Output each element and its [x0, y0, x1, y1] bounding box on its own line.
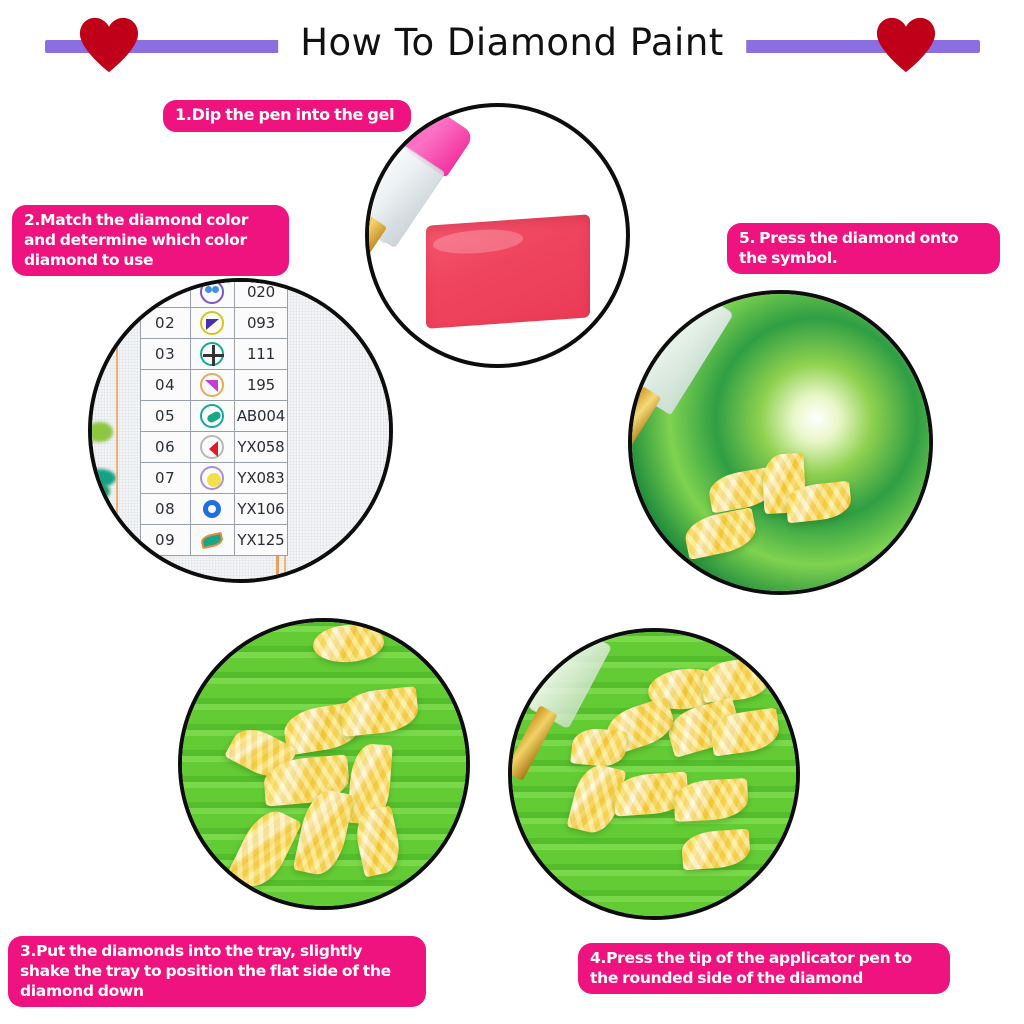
legend-code: YX083 [234, 463, 287, 494]
legend-code: YX058 [234, 432, 287, 463]
step-3-label: 3.Put the diamonds into the tray, slight… [8, 936, 426, 1007]
plus-cross-symbol [200, 342, 224, 366]
canvas-print-blob [92, 484, 110, 499]
heart-icon [875, 15, 937, 75]
legend-number: 03 [140, 339, 190, 370]
legend-number: 07 [140, 463, 190, 494]
step-5-label: 5. Press the diamond onto the symbol. [727, 223, 1000, 274]
step-1-photo [365, 103, 630, 368]
infographic-canvas: How To Diamond Paint 1.Dip the pen into … [0, 0, 1024, 1024]
slanted-bar-symbol [200, 404, 224, 428]
legend-number: 06 [140, 432, 190, 463]
legend-row: 09YX125 [140, 525, 288, 556]
legend-symbol-cell [191, 279, 234, 305]
legend-row: 03111 [140, 339, 288, 370]
legend-code: 111 [234, 339, 287, 370]
step-4-label: 4.Press the tip of the applicator pen to… [578, 943, 950, 994]
legend-row: 08YX106 [140, 494, 288, 525]
step-4-photo [508, 628, 800, 920]
step-3-photo [178, 618, 470, 910]
legend-number: 04 [140, 370, 190, 401]
legend-symbol-cell [191, 465, 234, 491]
legend-symbol-cell [191, 403, 234, 429]
step-5-photo [628, 290, 933, 595]
legend-symbol-cell [191, 527, 234, 553]
page-title: How To Diamond Paint [278, 18, 746, 68]
pen-tip [628, 387, 661, 458]
legend-symbol-cell [191, 310, 234, 336]
pen-tip [508, 705, 559, 781]
legend-row: 06YX058 [140, 432, 288, 463]
legend-number: 08 [140, 494, 190, 525]
triangle-wedge-symbol [200, 373, 224, 397]
legend-number: 05 [140, 401, 190, 432]
left-chevron-symbol [200, 435, 224, 459]
legend-number: 02 [140, 308, 190, 339]
legend-code: YX125 [234, 525, 287, 556]
legend-number [140, 278, 190, 308]
legend-row: 020 [140, 278, 288, 308]
legend-number: 09 [140, 525, 190, 556]
legend-code: YX106 [234, 494, 287, 525]
chart-edge-line [116, 282, 118, 579]
legend-code: 195 [234, 370, 287, 401]
legend-code: AB004 [234, 401, 287, 432]
legend-code: 093 [234, 308, 287, 339]
legend-symbol-cell [191, 372, 234, 398]
legend-symbol-cell [191, 434, 234, 460]
open-ring-symbol [200, 497, 224, 521]
gel-pad [426, 214, 590, 328]
heart-icon [78, 15, 140, 75]
legend-row: 07YX083 [140, 463, 288, 494]
legend-symbol-cell [191, 496, 234, 522]
legend-symbol-cell [191, 341, 234, 367]
step-2-label: 2.Match the diamond color and determine … [12, 205, 289, 276]
color-chart-table: 02002093031110419505AB00406YX05807YX0830… [140, 278, 289, 556]
filled-dot-symbol [200, 466, 224, 490]
legend-code: 020 [234, 278, 287, 308]
legend-row: 04195 [140, 370, 288, 401]
step-2-photo: 02002093031110419505AB00406YX05807YX0830… [88, 278, 393, 583]
legend-row: 02093 [140, 308, 288, 339]
triangle-flag-symbol [200, 311, 224, 335]
legend-row: 05AB004 [140, 401, 288, 432]
double-dot-symbol [200, 280, 224, 304]
leaf-eye-symbol [200, 528, 224, 552]
